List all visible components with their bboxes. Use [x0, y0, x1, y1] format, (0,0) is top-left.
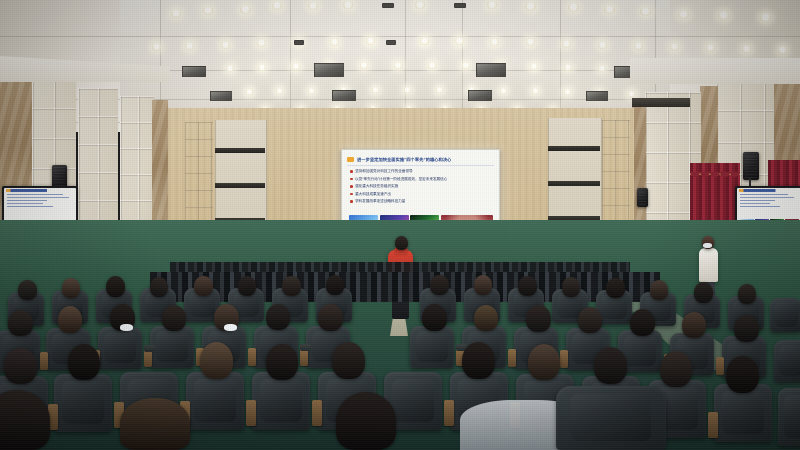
seat-armrest: [444, 400, 454, 426]
slide-bullet: 重大科技成果加速产出: [350, 192, 494, 196]
slide-title: 进一步坚定加快全面实施“四个率先”的雄心和决心: [357, 157, 451, 162]
ceiling-downlight: [718, 11, 729, 20]
attendee-head: [266, 304, 290, 330]
attendee-head: [422, 304, 447, 331]
seat-armrest-pad: [300, 344, 311, 351]
seat-armrest: [716, 357, 724, 375]
ceiling-downlight: [568, 3, 579, 12]
ceiling-downlight: [526, 38, 535, 46]
attendee-head: [326, 275, 344, 295]
auditorium-seat[interactable]: [150, 326, 194, 368]
ceiling-downlight: [372, 87, 379, 93]
attendee-head: [562, 277, 580, 297]
ceiling-downlight: [436, 87, 443, 93]
person-red-jacket-head: [395, 236, 408, 250]
slide-accent-marker: [347, 157, 354, 162]
ceiling-air-diffuser: [314, 63, 344, 77]
ceiling-downlight: [678, 10, 689, 19]
slide-divider: [347, 165, 494, 166]
attendee-head: [8, 310, 33, 336]
person-white-coat-body: [699, 248, 718, 282]
ceiling-downlight: [221, 41, 230, 49]
bullet-dot-icon: [350, 185, 353, 188]
attendee-head: [162, 305, 186, 331]
auditorium-seat[interactable]: [252, 372, 310, 430]
bullet-dot-icon: [350, 170, 353, 173]
ceiling-downlight: [276, 88, 283, 94]
ceiling-downlight: [487, 1, 497, 9]
ceiling-downlight: [428, 62, 436, 69]
monitor-slide-title-bar: [6, 189, 74, 192]
ceiling-air-diffuser: [210, 91, 232, 101]
wall-soffit-right: [630, 58, 800, 84]
attendee-head: [594, 347, 627, 384]
ceiling-downlight: [308, 2, 318, 10]
attendee-head: [630, 309, 655, 336]
ceiling-downlight: [760, 13, 771, 22]
seat-armrest: [560, 350, 568, 368]
stage-band: [548, 146, 600, 151]
attendee-head: [18, 280, 37, 300]
ceiling-downlight: [564, 89, 571, 95]
bullet-dot-icon: [350, 193, 353, 196]
slide-bullet: 以党“率先行动”计划第一阶段进展成效，坚定未来发展信心: [350, 177, 494, 181]
attendee-head: [734, 315, 759, 342]
ceiling-downlight: [308, 88, 315, 94]
attendee-head: [68, 344, 100, 380]
attendee-head: [578, 307, 602, 333]
attendee-head: [200, 342, 233, 379]
ceiling-downlight: [366, 37, 375, 45]
slide-bullet: 强化重大科技任务组织实施: [350, 184, 494, 188]
seat-armrest: [508, 349, 516, 367]
attendee-head: [150, 277, 168, 297]
seat-armrest: [708, 412, 718, 438]
ceiling-downlight: [420, 37, 429, 45]
ceiling-downlight: [634, 42, 643, 50]
ceiling-downlight: [292, 63, 300, 70]
audio-speaker-right: [743, 152, 759, 180]
attendee-face-mask: [224, 324, 237, 331]
stage-band: [548, 181, 600, 186]
slide-bullet: 坚持和加强党对科技工作的全面领导: [350, 169, 494, 173]
auditorium-seat[interactable]: [410, 326, 454, 368]
seat-armrest: [40, 352, 48, 370]
attendee-head: [650, 280, 668, 300]
ceiling-vent: [294, 40, 304, 45]
ceiling-downlight: [343, 1, 353, 9]
ceiling-downlight: [562, 40, 571, 48]
ceiling-downlight: [628, 91, 635, 97]
attendee-head: [238, 276, 256, 296]
ceiling-downlight: [455, 37, 464, 45]
ceiling-downlight: [203, 6, 213, 15]
ceiling-downlight: [240, 5, 251, 14]
seat-armrest: [246, 400, 256, 426]
seat-armrest: [312, 400, 322, 426]
audio-speaker-right-far: [637, 188, 648, 207]
monitor-slide-bullets: [740, 194, 799, 210]
attendee-head: [282, 276, 301, 296]
attendee-head: [4, 348, 37, 384]
attendee-head-foreground: [120, 398, 190, 450]
ceiling-downlight: [670, 43, 679, 51]
ceiling-downlight: [257, 39, 266, 47]
ceiling-vent: [382, 3, 394, 8]
ceiling-downlight: [246, 89, 253, 95]
attendee-head: [682, 312, 706, 338]
attendee-head: [526, 305, 551, 332]
slide-header: 进一步坚定加快全面实施“四个率先”的雄心和决心: [347, 155, 494, 164]
attendee-head: [194, 276, 213, 296]
ceiling-downlight: [564, 64, 572, 71]
ceiling-downlight: [258, 64, 266, 71]
attendee-head: [106, 276, 125, 297]
stage-band: [215, 148, 265, 153]
ceiling-downlight: [598, 41, 607, 49]
bullet-dot-icon: [350, 178, 353, 181]
ceiling-downlight: [598, 65, 606, 72]
ceiling-downlight: [272, 1, 282, 10]
ceiling-downlight: [185, 42, 194, 50]
ceiling-downlight: [778, 46, 787, 54]
ceiling-air-diffuser: [586, 91, 608, 101]
ceiling-downlight: [330, 38, 339, 46]
auditorium-photo: 进一步坚定加快全面实施“四个率先”的雄心和决心 坚持和加强党对科技工作的全面领导…: [0, 0, 800, 450]
ceiling-downlight: [530, 63, 538, 70]
ceiling-downlight: [706, 44, 715, 52]
auditorium-seat[interactable]: [54, 374, 112, 432]
ceiling-downlight: [640, 7, 651, 16]
monitor-slide-title-bar: [739, 189, 800, 192]
ceiling-downlight: [171, 9, 181, 18]
auditorium-seat[interactable]: [770, 298, 800, 332]
attendee-head: [606, 278, 625, 298]
ceiling-vent: [454, 3, 466, 8]
ceiling-vent: [386, 40, 396, 45]
bullet-dot-icon: [350, 200, 353, 203]
attendee-head: [528, 344, 560, 380]
ceiling-downlight: [742, 45, 751, 53]
auditorium-seat-foreground[interactable]: [556, 386, 666, 450]
slide-bullet: 学科发展改革攻坚战略科技力量: [350, 199, 494, 203]
auditorium-seat[interactable]: [778, 388, 800, 446]
attendee-head: [474, 275, 492, 295]
stage-band: [215, 183, 265, 188]
attendee-face-mask: [120, 324, 133, 331]
ceiling-downlight: [462, 62, 470, 69]
attendee-head: [462, 342, 495, 379]
auditorium-seat[interactable]: [98, 327, 142, 369]
curtain-valance-right-near: [690, 163, 740, 174]
attendee-head: [58, 306, 82, 333]
attendee-head: [694, 282, 713, 303]
attendee-head: [474, 305, 498, 331]
attendee-head: [726, 356, 759, 393]
ceiling-downlight: [525, 2, 536, 11]
attendee-head: [332, 342, 365, 379]
ceiling-air-diffuser: [332, 90, 356, 101]
slide-bullet-list: 坚持和加强党对科技工作的全面领导 以党“率先行动”计划第一阶段进展成效，坚定未来…: [350, 169, 494, 207]
ceiling-downlight: [532, 88, 539, 94]
person-white-coat-mask: [703, 243, 712, 248]
auditorium-seat[interactable]: [186, 372, 244, 430]
ceiling-downlight: [394, 62, 402, 69]
ceiling-downlight: [604, 5, 615, 14]
ceiling-air-diffuser: [476, 63, 506, 77]
attendee-head: [430, 275, 449, 295]
monitor-slide-bullets: [7, 194, 73, 210]
attendee-head: [318, 304, 343, 331]
ceiling-downlight: [404, 87, 411, 93]
attendee-head: [660, 351, 692, 387]
ceiling-downlight: [226, 65, 234, 72]
wall-header-beam-right: [632, 98, 690, 107]
ceiling-air-diffuser: [468, 90, 492, 101]
ceiling-downlight: [490, 38, 499, 46]
ceiling-downlight: [152, 43, 161, 51]
seat-armrest: [248, 348, 256, 366]
ceiling-downlight: [415, 1, 425, 9]
seat-armrest-pad: [144, 345, 155, 352]
attendee-head: [266, 344, 298, 380]
auditorium-seat[interactable]: [774, 340, 800, 382]
ceiling-air-diffuser: [182, 66, 206, 77]
ceiling-downlight: [360, 62, 368, 69]
ceiling-downlight: [500, 88, 507, 94]
attendee-head: [62, 278, 80, 298]
attendee-head-foreground: [336, 392, 396, 450]
attendee-head: [738, 284, 756, 304]
attendee-head: [518, 276, 537, 296]
